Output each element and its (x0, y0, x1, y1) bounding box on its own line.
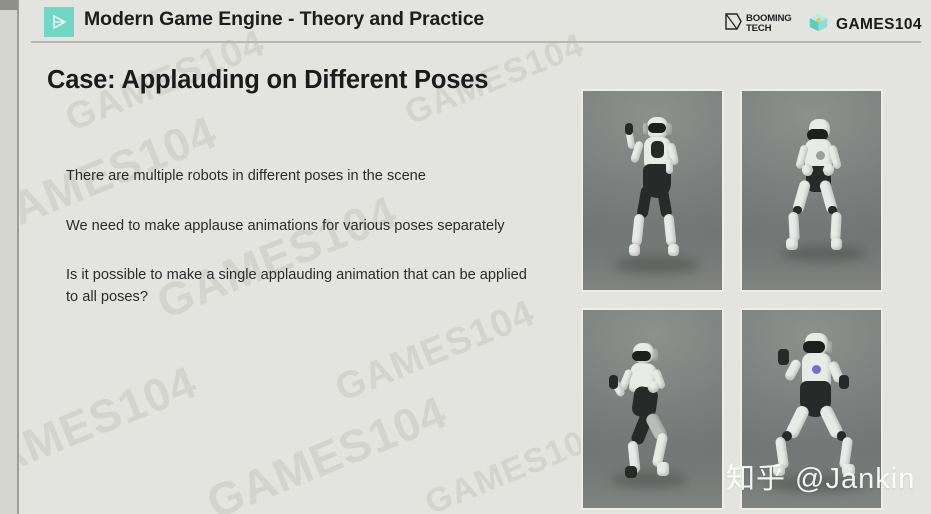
header-bar: Modern Game Engine - Theory and Practice (19, 0, 931, 43)
zhihu-watermark: 知乎 @Jankin (726, 455, 915, 497)
slide-root: GAMES104 GAMES104 GAMES104 GAMES104 GAME… (0, 0, 931, 514)
left-gutter-divider (17, 0, 19, 514)
bullet-item: We need to make applause animations for … (66, 216, 536, 238)
header-title: Modern Game Engine - Theory and Practice (84, 8, 484, 31)
bullet-list: There are multiple robots in different p… (66, 166, 536, 308)
bullet-item: Is it possible to make a single applaudi… (66, 265, 536, 308)
cube-icon (808, 12, 829, 38)
slide-title: Case: Applauding on Different Poses (47, 66, 488, 95)
header-divider (31, 41, 921, 43)
background-watermark: GAMES104 (199, 384, 454, 514)
brand-games104: GAMES104 (808, 12, 922, 38)
bullet-item: There are multiple robots in different p… (66, 166, 536, 188)
robot-pose-lunge-side (581, 308, 724, 511)
robot-pose-image-grid (581, 89, 883, 510)
background-watermark: GAMES104 (0, 354, 204, 499)
left-page-gutter (0, 0, 18, 514)
robot-pose-standing-wave (581, 89, 724, 292)
brand-booming-tech: BOOMING TECH (724, 12, 792, 36)
booming-b-icon (724, 12, 743, 36)
robot-pose-crouch-clap (740, 89, 883, 292)
background-watermark: GAMES104 (330, 292, 542, 411)
left-gutter-corner-mark (0, 0, 18, 10)
booming-line-2: TECH (746, 24, 792, 34)
games104-label: GAMES104 (836, 16, 922, 34)
play-triangle-icon (44, 7, 74, 37)
